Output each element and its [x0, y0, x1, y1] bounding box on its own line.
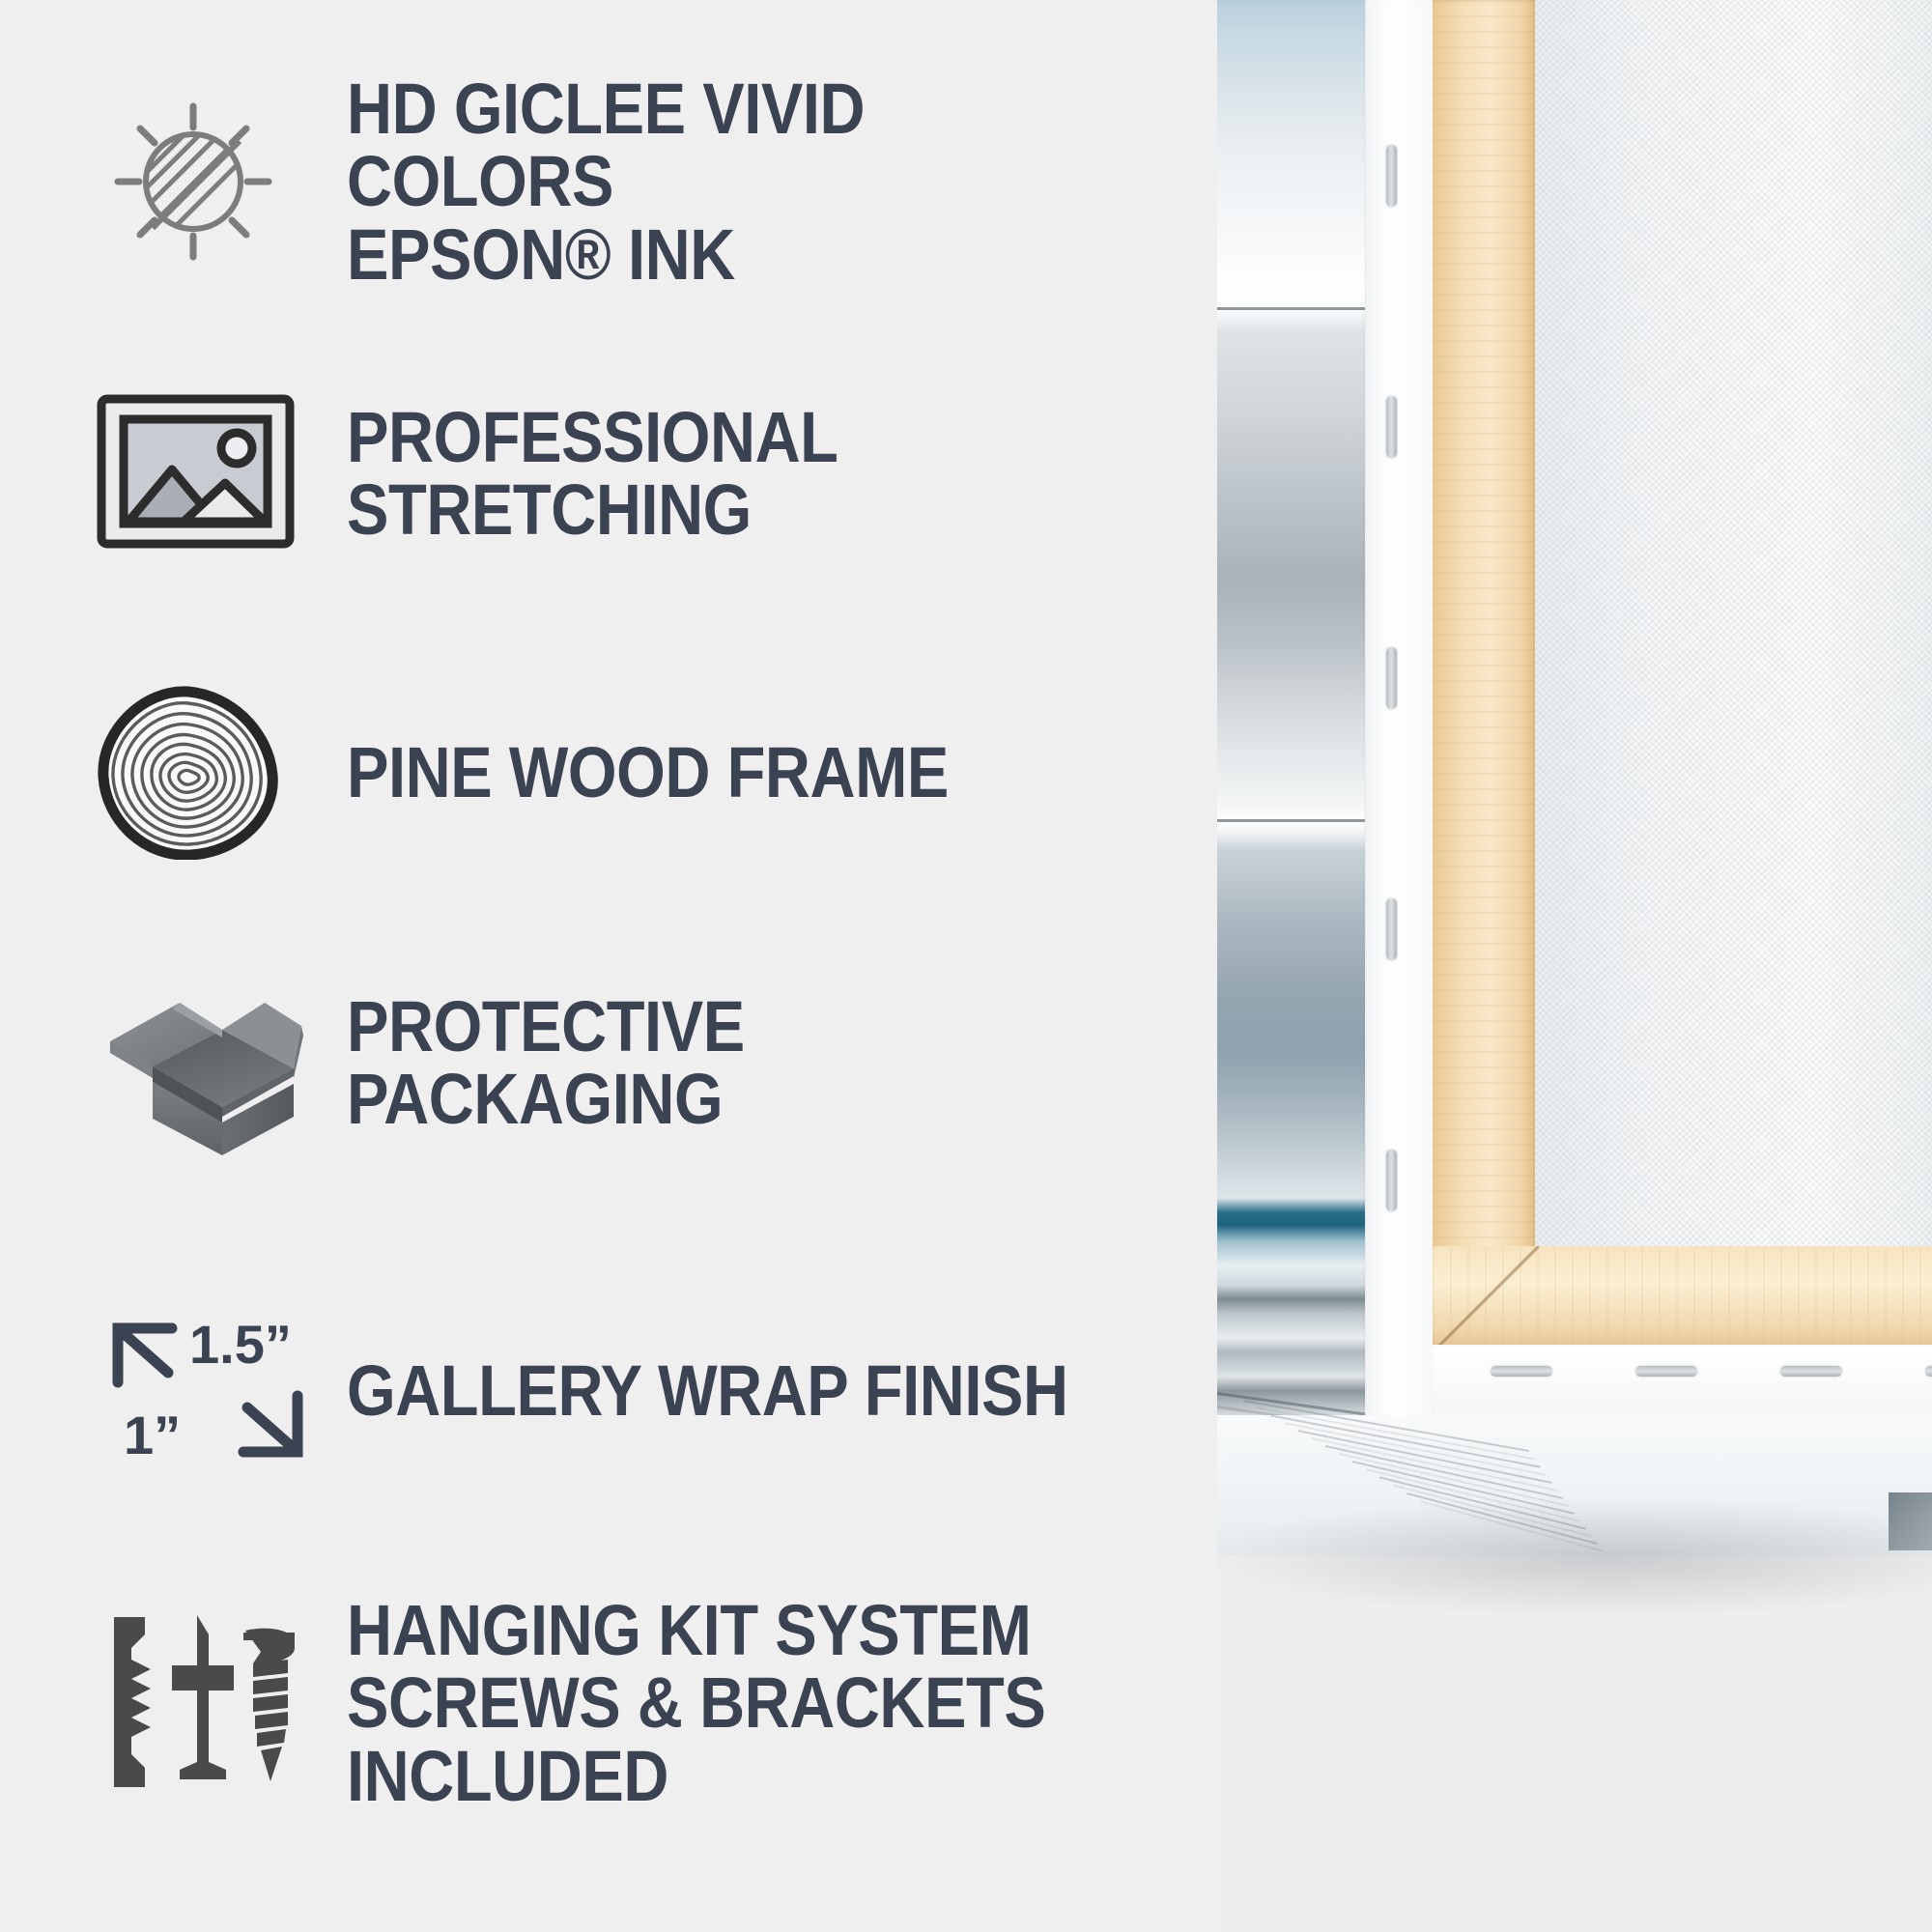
feature-label-hanging-kit: HANGING KIT SYSTEM SCREWS & BRACKETS INC… — [347, 1594, 1113, 1812]
photo-right-fade — [1879, 0, 1932, 1584]
feature-row-gallery-wrap-finish: 1.5” 1” GALLERY WRAP FINISH — [97, 1294, 1166, 1488]
feature-row-professional-stretching: PROFESSIONAL STRETCHING — [97, 377, 1217, 570]
gallery-wrap-depth-top: 1.5” — [189, 1314, 292, 1375]
staple — [1386, 647, 1397, 709]
pine-stretcher-bar-vertical — [1433, 0, 1537, 1348]
canvas-bottom-staple-flap — [1433, 1345, 1932, 1420]
feature-icon-slot — [97, 966, 304, 1159]
tree-ring-icon — [97, 686, 285, 860]
open-box-icon — [97, 966, 304, 1159]
edge-seam-lower — [1203, 819, 1367, 822]
underside-stripe — [1270, 1414, 1540, 1467]
gallery-wrap-arrows-icon: 1.5” 1” — [97, 1307, 319, 1476]
bracket-icon — [114, 1617, 151, 1787]
feature-label-protective-packaging: PROTECTIVE PACKAGING — [347, 990, 1113, 1136]
edge-seam-upper — [1203, 307, 1367, 310]
feature-row-pine-wood-frame: PINE WOOD FRAME — [97, 676, 1031, 869]
gallery-wrap-printed-edge — [1203, 0, 1367, 1546]
canvas-staple-edge — [1365, 0, 1435, 1546]
staple — [1386, 1150, 1397, 1211]
feature-label-pine-wood-frame: PINE WOOD FRAME — [347, 736, 949, 809]
nail-icon — [172, 1615, 234, 1779]
feature-icon-slot — [97, 377, 304, 570]
feature-row-protective-packaging: PROTECTIVE PACKAGING — [97, 966, 1217, 1159]
feature-row-hd-giclee: HD GICLEE VIVID COLORS EPSON® INK — [97, 72, 1217, 291]
product-photo-canvas-corner — [1203, 0, 1932, 1584]
gallery-wrap-depth-bottom: 1” — [124, 1405, 181, 1465]
feature-label-gallery-wrap-finish: GALLERY WRAP FINISH — [347, 1354, 1068, 1427]
mitre-joint-line — [1433, 1246, 1539, 1352]
feature-icon-slot — [97, 1606, 304, 1800]
feature-icon-slot — [97, 676, 304, 869]
staple — [1491, 1366, 1552, 1377]
canvas-reverse-texture — [1535, 0, 1932, 1256]
staple — [1780, 1366, 1842, 1377]
feature-icon-slot: 1.5” 1” — [97, 1294, 304, 1488]
staple — [1386, 145, 1397, 207]
feature-label-professional-stretching: PROFESSIONAL STRETCHING — [347, 401, 1113, 547]
picture-frame-icon — [97, 394, 299, 554]
feature-label-hd-giclee: HD GICLEE VIVID COLORS EPSON® INK — [347, 72, 1113, 291]
feature-list: HD GICLEE VIVID COLORS EPSON® INK PROFES… — [0, 0, 1217, 1932]
feature-row-hanging-kit: HANGING KIT SYSTEM SCREWS & BRACKETS INC… — [97, 1594, 1217, 1812]
staple — [1386, 396, 1397, 458]
underside-stripe — [1257, 1407, 1535, 1461]
sun-icon — [97, 85, 290, 278]
staple — [1635, 1366, 1697, 1377]
hanging-hardware-icon — [97, 1609, 295, 1798]
feature-icon-slot — [97, 85, 304, 278]
canvas-underside-reflection — [1203, 1415, 1932, 1555]
staple — [1386, 898, 1397, 960]
screw-tip-icon — [261, 1747, 282, 1781]
